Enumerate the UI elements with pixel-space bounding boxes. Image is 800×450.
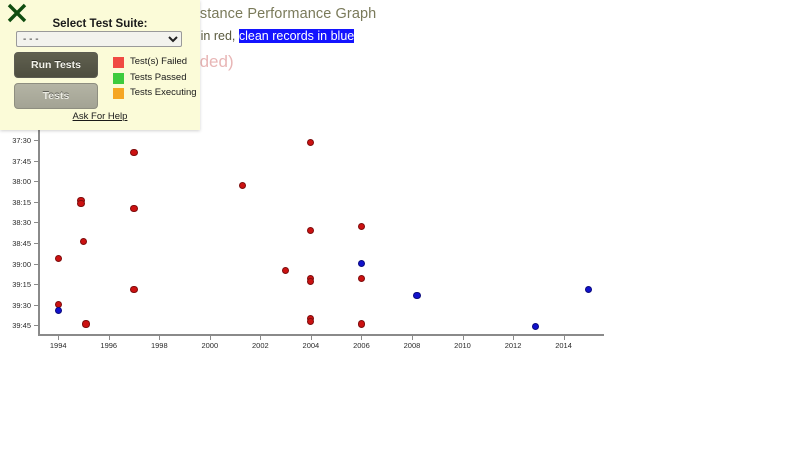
y-axis-tick — [34, 305, 39, 306]
legend-swatch-icon — [113, 88, 124, 99]
x-axis-tick — [210, 336, 211, 340]
y-axis-tick-label: 38:30 — [0, 218, 31, 227]
data-point — [358, 275, 365, 282]
y-axis-tick-label: 39:45 — [0, 321, 31, 330]
x-axis-tick — [513, 336, 514, 340]
x-axis-tick — [58, 336, 59, 340]
x-axis-tick-label: 2006 — [346, 341, 376, 350]
legend-swatch-icon — [113, 57, 124, 68]
x-axis-tick-label: 2000 — [195, 341, 225, 350]
data-point — [585, 286, 592, 293]
x-axis-tick-label: 2008 — [397, 341, 427, 350]
legend-label: Tests Executing — [130, 87, 197, 98]
x-axis-tick-label: 1998 — [144, 341, 174, 350]
x-axis-tick-label: 2012 — [498, 341, 528, 350]
test-suite-select[interactable]: - - - — [16, 31, 182, 47]
x-axis-tick-label: 2002 — [245, 341, 275, 350]
y-axis-tick — [34, 202, 39, 203]
x-axis-tick — [159, 336, 160, 340]
x-axis-tick — [311, 336, 312, 340]
data-point — [307, 227, 314, 234]
x-axis-tick — [412, 336, 413, 340]
tests-button[interactable]: Tests — [14, 83, 98, 109]
data-point — [307, 278, 314, 285]
x-axis-tick-label: 2004 — [296, 341, 326, 350]
data-point — [130, 205, 137, 212]
y-axis-tick-label: 38:15 — [0, 198, 31, 207]
y-axis-tick-label: 37:30 — [0, 136, 31, 145]
y-axis-tick-label: 37:45 — [0, 157, 31, 166]
data-point — [413, 292, 420, 299]
y-axis-tick — [34, 325, 39, 326]
data-point — [282, 267, 289, 274]
x-axis-tick — [361, 336, 362, 340]
x-axis-tick-label: 2010 — [448, 341, 478, 350]
y-axis-tick — [34, 161, 39, 162]
data-point — [55, 255, 62, 262]
data-point — [358, 223, 365, 230]
x-axis-tick — [564, 336, 565, 340]
data-point — [307, 318, 314, 325]
y-axis-tick — [34, 140, 39, 141]
y-axis-line — [38, 100, 40, 334]
legend-swatch-icon — [113, 73, 124, 84]
x-axis-tick-label: 1996 — [94, 341, 124, 350]
select-test-suite-label: Select Test Suite: — [0, 18, 200, 30]
y-axis-tick-label: 38:00 — [0, 177, 31, 186]
data-point — [80, 238, 87, 245]
test-suite-overlay: Select Test Suite: - - - Run Tests Tests… — [0, 0, 200, 130]
y-axis-tick — [34, 222, 39, 223]
y-axis-tick-label: 39:15 — [0, 280, 31, 289]
y-axis-tick — [34, 264, 39, 265]
x-axis-tick-label: 2014 — [549, 341, 579, 350]
x-axis-tick — [260, 336, 261, 340]
legend-label: Test(s) Failed — [130, 56, 187, 67]
y-axis-tick-label: 39:00 — [0, 260, 31, 269]
data-point — [358, 260, 365, 267]
y-axis-tick-label: 38:45 — [0, 239, 31, 248]
legend-label: Tests Passed — [130, 72, 187, 83]
data-point — [239, 182, 246, 189]
data-point — [82, 320, 89, 327]
y-axis-tick — [34, 284, 39, 285]
y-axis-tick — [34, 243, 39, 244]
x-axis-tick — [463, 336, 464, 340]
data-point — [532, 323, 539, 330]
data-point — [358, 320, 365, 327]
data-point — [77, 200, 84, 207]
y-axis-tick-label: 39:30 — [0, 301, 31, 310]
x-axis-tick-label: 1994 — [43, 341, 73, 350]
run-tests-button[interactable]: Run Tests — [14, 52, 98, 78]
x-axis-line — [38, 334, 604, 336]
ask-for-help-link[interactable]: Ask For Help — [0, 111, 200, 122]
y-axis-tick — [34, 181, 39, 182]
data-point — [130, 149, 137, 156]
data-point — [130, 286, 137, 293]
x-axis-tick — [109, 336, 110, 340]
data-point — [55, 307, 62, 314]
data-point — [307, 139, 314, 146]
